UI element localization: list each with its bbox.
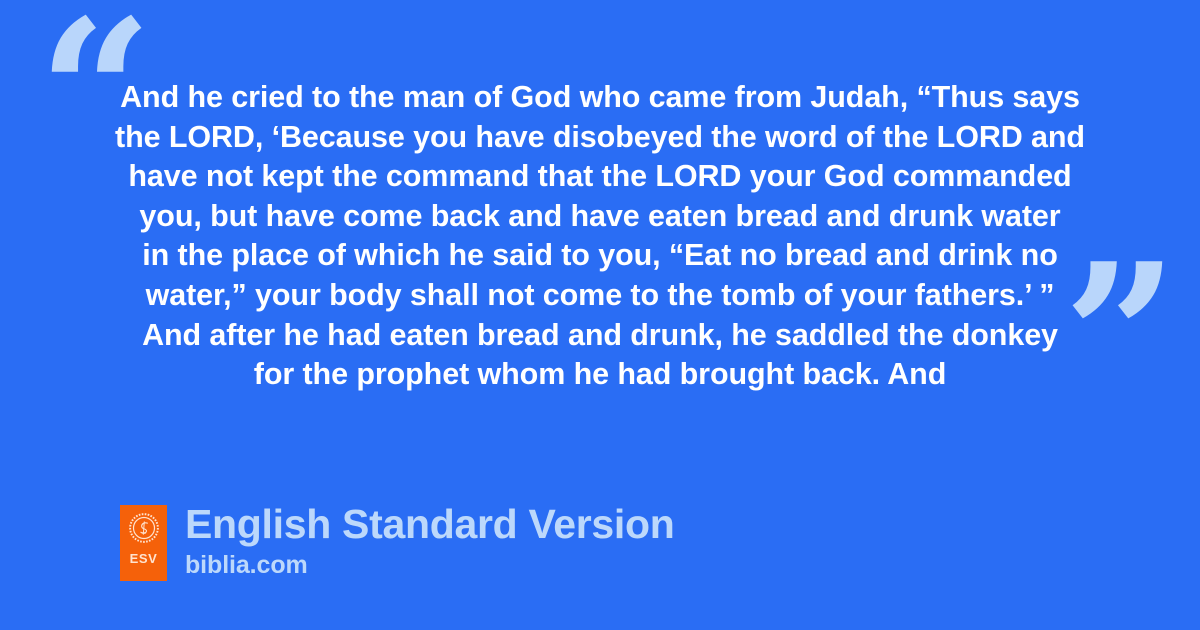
quote-line: have not kept the command that the LORD … [100,157,1100,197]
quote-line: And after he had eaten bread and drunk, … [100,316,1100,356]
close-quote-icon: ” [1063,238,1178,438]
quote-line: you, but have come back and have eaten b… [100,197,1100,237]
bible-version-title: English Standard Version [185,502,674,546]
esv-logo-abbr: ESV [130,552,158,565]
site-url: biblia.com [185,551,674,579]
quote-line: water,” your body shall not come to the … [100,276,1100,316]
esv-seal-icon [129,513,159,543]
attribution: ESV English Standard Version biblia.com [120,505,674,581]
quote-line: in the place of which he said to you, “E… [100,236,1100,276]
quote-line: the LORD, ‘Because you have disobeyed th… [100,118,1100,158]
esv-logo: ESV [120,505,167,581]
quote-text-block: And he cried to the man of God who came … [100,78,1100,395]
quote-line: And he cried to the man of God who came … [100,78,1100,118]
quote-card: “ And he cried to the man of God who cam… [0,0,1200,630]
quote-line: for the prophet whom he had brought back… [100,355,1100,395]
attribution-text: English Standard Version biblia.com [185,505,674,579]
